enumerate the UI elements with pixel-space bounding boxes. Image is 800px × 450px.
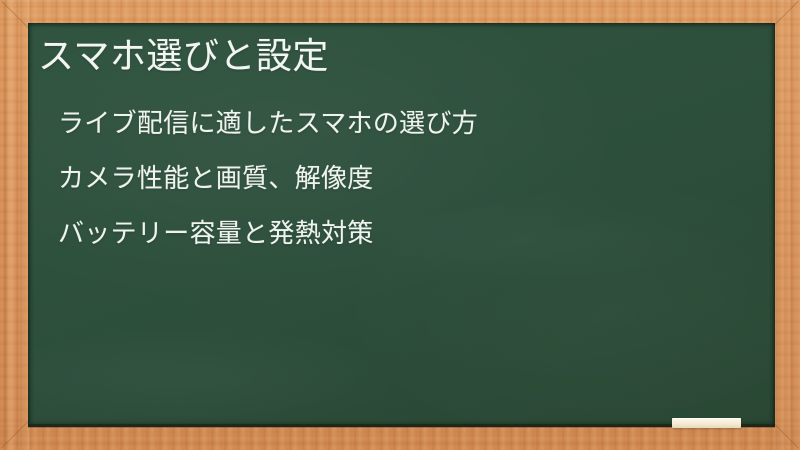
- chalkboard-icon: スマホ選びと設定 ライブ配信に適したスマホの選び方 カメラ性能と画質、解像度 バ…: [28, 23, 775, 427]
- board-bottom-shadow: [28, 424, 775, 428]
- frame-grain-right: [772, 0, 800, 450]
- list-item: カメラ性能と画質、解像度: [58, 160, 478, 196]
- list-item: ライブ配信に適したスマホの選び方: [58, 105, 478, 141]
- frame-grain-left: [0, 0, 30, 450]
- chalk-stick-icon: [672, 418, 741, 428]
- frame-grain-top: [0, 0, 800, 24]
- slide-content: スマホ選びと設定 ライブ配信に適したスマホの選び方 カメラ性能と画質、解像度 バ…: [28, 23, 775, 427]
- list-item: バッテリー容量と発熱対策: [58, 215, 478, 251]
- page-title: スマホ選びと設定: [38, 33, 329, 79]
- chalkboard-slide: スマホ選びと設定 ライブ配信に適したスマホの選び方 カメラ性能と画質、解像度 バ…: [0, 0, 800, 450]
- bullet-list: ライブ配信に適したスマホの選び方 カメラ性能と画質、解像度 バッテリー容量と発熱…: [58, 105, 478, 251]
